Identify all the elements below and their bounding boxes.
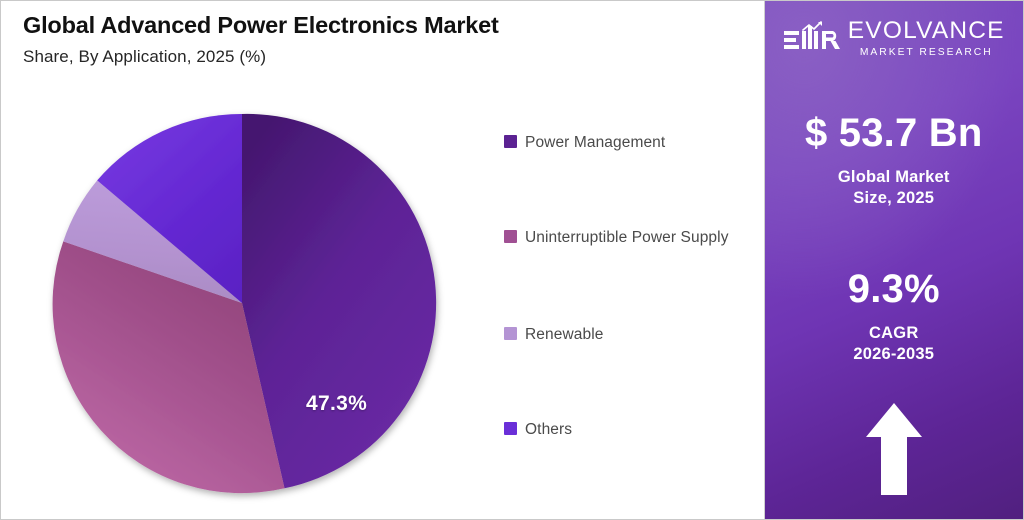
title-block: Global Advanced Power Electronics Market… xyxy=(23,11,723,67)
brand-text: EVOLVANCE MARKET RESEARCH xyxy=(848,19,1005,58)
stat-caption-line-2: 2026-2035 xyxy=(765,344,1024,365)
stat-cagr: 9.3% CAGR 2026-2035 xyxy=(765,269,1024,365)
brand-logo[interactable]: EVOLVANCE MARKET RESEARCH xyxy=(765,19,1024,58)
pie-chart: 47.3% xyxy=(53,114,431,492)
legend-swatch-icon xyxy=(504,327,517,340)
stat-caption-line-1: CAGR xyxy=(765,323,1024,344)
page-title: Global Advanced Power Electronics Market xyxy=(23,11,723,40)
stat-market-size-value: $ 53.7 Bn xyxy=(765,113,1024,153)
stat-cagr-value: 9.3% xyxy=(765,269,1024,309)
chart-subtitle: Share, By Application, 2025 (%) xyxy=(23,47,723,67)
stat-market-size: $ 53.7 Bn Global Market Size, 2025 xyxy=(765,113,1024,209)
infographic-root: Global Advanced Power Electronics Market… xyxy=(0,0,1024,520)
legend-swatch-icon xyxy=(504,230,517,243)
legend-swatch-icon xyxy=(504,135,517,148)
legend-label: Others xyxy=(525,418,572,443)
emr-monogram-icon xyxy=(783,21,841,55)
stat-market-size-caption: Global Market Size, 2025 xyxy=(765,167,1024,209)
stat-caption-line-1: Global Market xyxy=(765,167,1024,188)
legend-label: Uninterruptible Power Supply xyxy=(525,226,729,251)
legend-label: Renewable xyxy=(525,323,603,348)
chart-panel: Global Advanced Power Electronics Market… xyxy=(1,1,765,519)
legend-item-uninterruptible-power-supply[interactable]: Uninterruptible Power Supply xyxy=(504,226,754,251)
brand-tagline: MARKET RESEARCH xyxy=(848,48,1005,58)
stat-cagr-caption: CAGR 2026-2035 xyxy=(765,323,1024,365)
legend-item-power-management[interactable]: Power Management xyxy=(504,131,754,156)
pie-chart-svg xyxy=(53,114,431,492)
stats-panel: EVOLVANCE MARKET RESEARCH $ 53.7 Bn Glob… xyxy=(765,1,1024,519)
legend-item-renewable[interactable]: Renewable xyxy=(504,323,754,348)
legend-swatch-icon xyxy=(504,422,517,435)
arrow-up-icon xyxy=(864,399,924,499)
pie-slices xyxy=(53,114,437,493)
brand-name: EVOLVANCE xyxy=(848,19,1005,44)
stat-caption-line-2: Size, 2025 xyxy=(765,188,1024,209)
growth-indicator xyxy=(765,399,1024,499)
legend-item-others[interactable]: Others xyxy=(504,418,754,443)
legend-label: Power Management xyxy=(525,131,665,156)
